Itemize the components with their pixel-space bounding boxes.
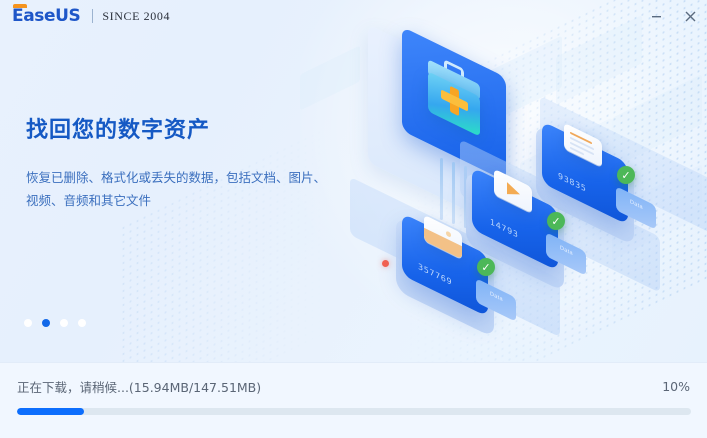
progress-bar-track — [17, 408, 691, 415]
carousel-dots[interactable] — [24, 319, 86, 327]
status-check-icon-1: ✓ — [477, 258, 495, 276]
status-check-icon-3: ✓ — [617, 166, 635, 184]
close-button[interactable] — [673, 0, 707, 32]
hero-copy: 找回您的数字资产 恢复已删除、格式化或丢失的数据，包括文档、图片、视频、音频和其… — [26, 112, 326, 212]
carousel-dot-1[interactable] — [24, 319, 32, 327]
window-controls — [639, 0, 707, 32]
close-icon — [685, 11, 696, 22]
brand-divider — [92, 9, 93, 23]
indicator-dot — [382, 260, 389, 267]
carousel-dot-3[interactable] — [60, 319, 68, 327]
minimize-button[interactable] — [639, 0, 673, 32]
easeus-installer-window: ✓ 93835 Data ✓ 14793 Data — [0, 0, 707, 438]
hero-illustration: ✓ 93835 Data ✓ 14793 Data — [340, 30, 700, 330]
progress-bar-fill — [17, 408, 84, 415]
carousel-dot-4[interactable] — [78, 319, 86, 327]
status-check-icon-2: ✓ — [547, 212, 565, 230]
minimize-icon — [651, 11, 662, 22]
cable-1 — [440, 158, 443, 220]
status-row: 正在下载，请稍候...(15.94MB/147.51MB) 10% — [17, 377, 690, 396]
page-title: 找回您的数字资产 — [26, 112, 326, 144]
logo-orange-bar — [13, 4, 27, 8]
brand-since-label: SINCE 2004 — [102, 9, 170, 24]
download-status-text: 正在下载，请稍候...(15.94MB/147.51MB) — [17, 377, 261, 396]
brand-name: EaseUS — [12, 6, 80, 26]
download-percent-label: 10% — [662, 379, 690, 394]
cable-2 — [452, 162, 455, 224]
easeus-logo: EaseUS — [12, 8, 80, 25]
title-bar: EaseUS SINCE 2004 — [0, 0, 707, 32]
download-panel: 正在下载，请稍候...(15.94MB/147.51MB) 10% — [0, 362, 707, 438]
carousel-dot-2[interactable] — [42, 319, 50, 327]
page-subtitle: 恢复已删除、格式化或丢失的数据，包括文档、图片、视频、音频和其它文件 — [26, 166, 326, 212]
hero-panel: ✓ 93835 Data ✓ 14793 Data — [0, 0, 707, 362]
brand-area: EaseUS SINCE 2004 — [0, 8, 170, 25]
